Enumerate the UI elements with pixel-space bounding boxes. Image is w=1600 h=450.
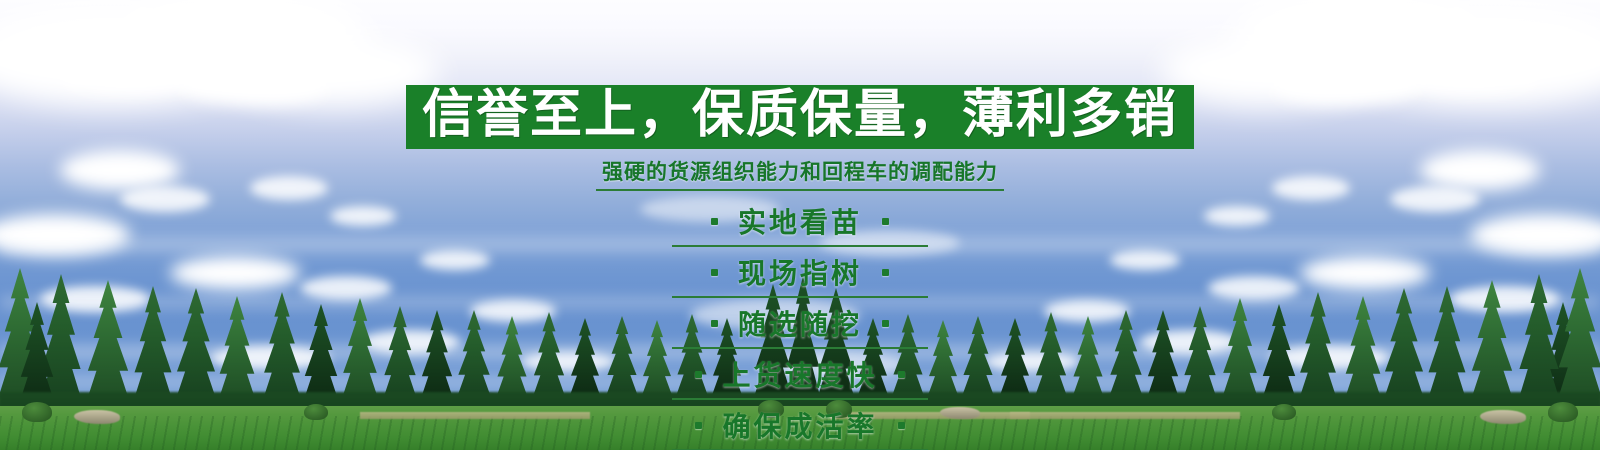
dot-bullet-icon — [695, 371, 702, 378]
feature-item: 确保成活率 — [672, 404, 928, 450]
feature-label: 随选随挖 — [738, 303, 862, 343]
feature-label: 确保成活率 — [722, 405, 877, 445]
dot-bullet-icon — [882, 320, 889, 327]
headline-bar: 信誉至上，保质保量，薄利多销 — [406, 85, 1194, 149]
feature-label: 上货速度快 — [722, 354, 877, 394]
dot-bullet-icon — [695, 422, 702, 429]
dot-bullet-icon — [711, 269, 718, 276]
promo-banner: 信誉至上，保质保量，薄利多销 强硬的货源组织能力和回程车的调配能力 实地看苗 现… — [0, 0, 1600, 450]
banner-text-block: 信誉至上，保质保量，薄利多销 强硬的货源组织能力和回程车的调配能力 实地看苗 现… — [0, 0, 1600, 450]
dot-bullet-icon — [711, 218, 718, 225]
headline-text: 信誉至上，保质保量，薄利多销 — [422, 89, 1178, 141]
feature-list: 实地看苗 现场指树 随选随挖 上货速度快 确保成活率 — [672, 200, 928, 450]
feature-item: 随选随挖 — [672, 302, 928, 349]
dot-bullet-icon — [898, 422, 905, 429]
subtitle-text: 强硬的货源组织能力和回程车的调配能力 — [596, 156, 1004, 191]
dot-bullet-icon — [882, 218, 889, 225]
dot-bullet-icon — [711, 320, 718, 327]
feature-label: 实地看苗 — [738, 201, 862, 241]
feature-item: 现场指树 — [672, 251, 928, 298]
feature-item: 实地看苗 — [672, 200, 928, 247]
feature-label: 现场指树 — [738, 252, 862, 292]
dot-bullet-icon — [898, 371, 905, 378]
dot-bullet-icon — [882, 269, 889, 276]
feature-item: 上货速度快 — [672, 353, 928, 400]
